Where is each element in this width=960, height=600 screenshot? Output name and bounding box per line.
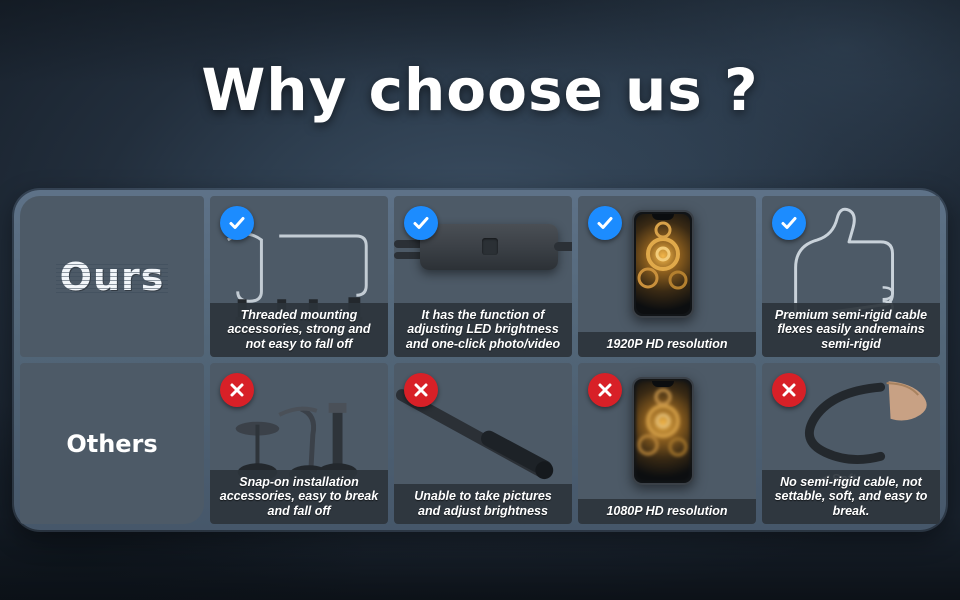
check-icon — [404, 206, 438, 240]
phone-notch — [652, 381, 674, 387]
cross-icon — [404, 373, 438, 407]
cross-icon — [772, 373, 806, 407]
phone-screen — [636, 381, 690, 481]
row-label-others-text: Others — [66, 430, 157, 458]
caption-ours-2: It has the function of adjusting LED bri… — [394, 303, 572, 358]
caption-ours-1: Threaded mounting accessories, strong an… — [210, 303, 388, 358]
check-icon — [220, 206, 254, 240]
phone-mockup-1920p — [632, 210, 694, 318]
cable-right — [554, 242, 572, 251]
gear-image-sharp — [636, 214, 690, 314]
cell-ours-3: 1920P HD resolution — [578, 196, 756, 357]
check-icon — [588, 206, 622, 240]
caption-others-4: No semi-rigid cable, not settable, soft,… — [762, 470, 940, 525]
caption-others-3: 1080P HD resolution — [578, 499, 756, 525]
cell-ours-4: Premium semi-rigid cable flexes easily a… — [762, 196, 940, 357]
caption-others-2: Unable to take pictures and adjust brigh… — [394, 484, 572, 524]
row-label-others: Others — [20, 363, 204, 524]
poster-canvas: Why choose us ? Ours — [0, 0, 960, 600]
comparison-grid: Ours — [20, 196, 940, 524]
caption-others-1: Snap-on installation accessories, easy t… — [210, 470, 388, 525]
cell-ours-2: It has the function of adjusting LED bri… — [394, 196, 572, 357]
comparison-panel: Ours — [14, 190, 946, 530]
cell-others-3: 1080P HD resolution — [578, 363, 756, 524]
gear-image-blurry — [636, 381, 690, 481]
cell-others-4: ◀Soft No semi-rigid cable, not settable,… — [762, 363, 940, 524]
cell-others-2: Unable to take pictures and adjust brigh… — [394, 363, 572, 524]
phone-mockup-1080p — [632, 377, 694, 485]
row-label-ours-text: Ours — [60, 255, 165, 299]
cell-ours-1: Threaded mounting accessories, strong an… — [210, 196, 388, 357]
cross-icon — [588, 373, 622, 407]
caption-ours-3: 1920P HD resolution — [578, 332, 756, 358]
control-box — [420, 224, 558, 270]
cell-others-1: Snap-on installation accessories, easy t… — [210, 363, 388, 524]
caption-ours-4: Premium semi-rigid cable flexes easily a… — [762, 303, 940, 358]
phone-screen — [636, 214, 690, 314]
row-label-ours: Ours — [20, 196, 204, 357]
control-box-button — [482, 238, 498, 255]
cross-icon — [220, 373, 254, 407]
phone-notch — [652, 214, 674, 220]
page-title: Why choose us ? — [0, 56, 960, 124]
check-icon — [772, 206, 806, 240]
